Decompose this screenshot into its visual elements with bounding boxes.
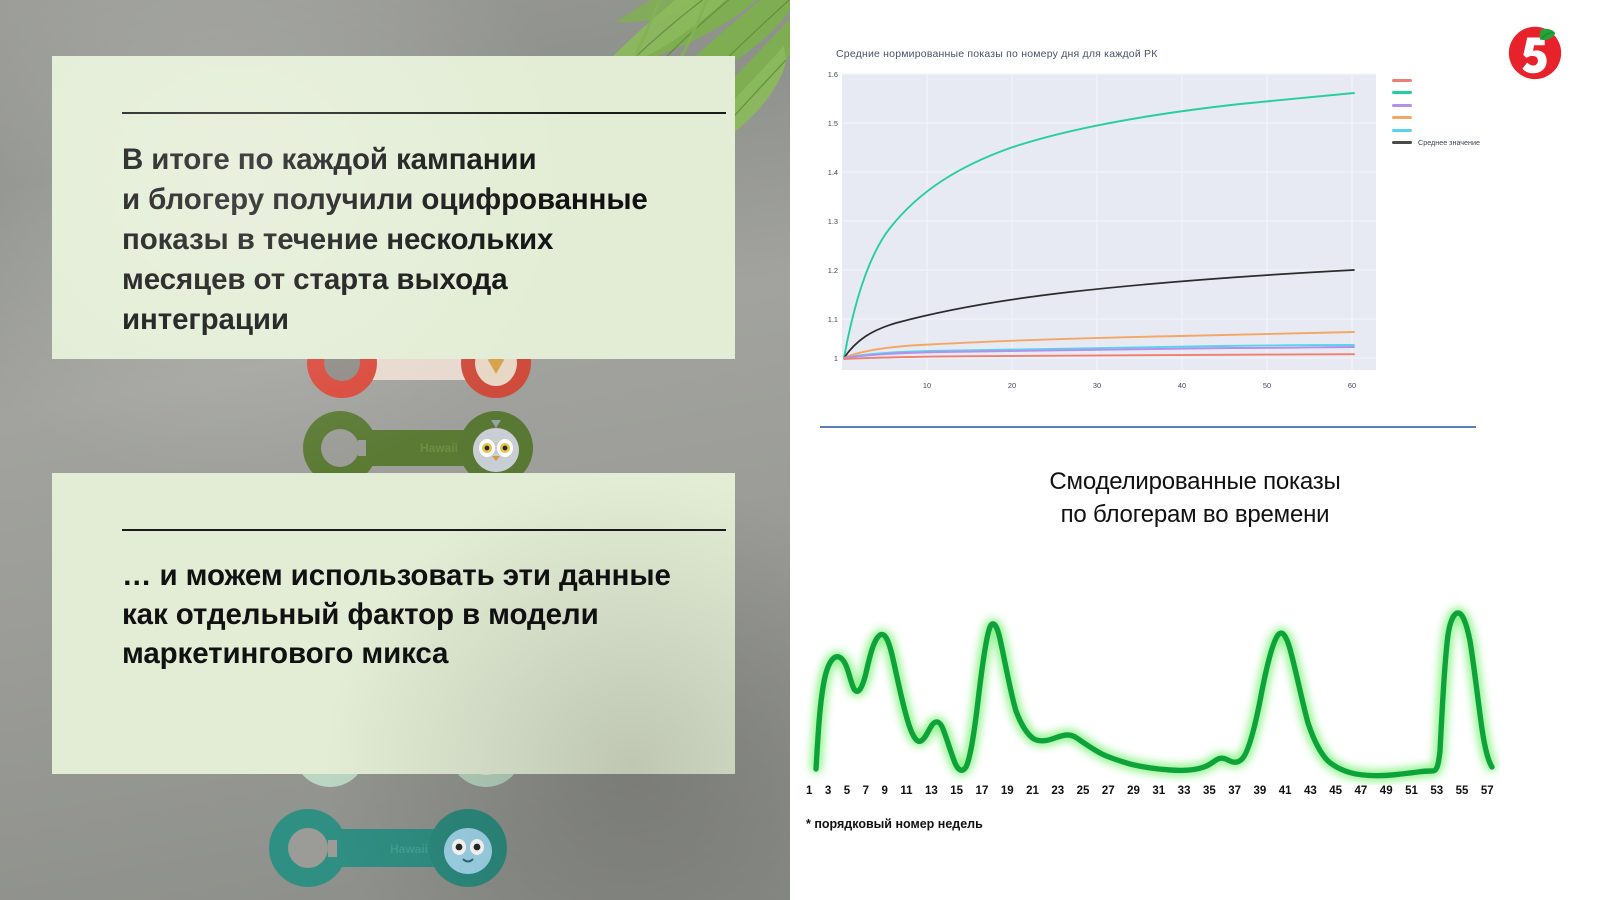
toy-keychain-teal-dino: Hawaii	[260, 795, 520, 900]
svg-text:1.4: 1.4	[828, 168, 838, 177]
tick-label: 1	[806, 785, 812, 797]
chart-plot-area: 1.6 1.5 1.4 1.3 1.2 1.1 1 10 20 30 40	[820, 68, 1500, 416]
chart-bottom-rule	[820, 426, 1476, 428]
svg-text:1.2: 1.2	[828, 266, 838, 275]
sparkline-path	[816, 613, 1492, 776]
tick-label: 47	[1355, 785, 1368, 797]
tick-label: 15	[950, 785, 963, 797]
svg-text:1.3: 1.3	[828, 217, 838, 226]
tick-label: 9	[882, 785, 888, 797]
card-usage-text: … и можем использовать эти данные как от…	[122, 557, 691, 674]
tick-label: 43	[1304, 785, 1317, 797]
tick-label: 55	[1456, 785, 1469, 797]
tick-label: 27	[1102, 785, 1115, 797]
svg-text:1.6: 1.6	[828, 70, 838, 79]
card-usage: … и можем использовать эти данные как от…	[52, 473, 735, 774]
legend-label-average: Среднее значение	[1418, 138, 1480, 147]
card-conclusion-text: В итоге по каждой кампании и блогеру пол…	[122, 140, 691, 341]
legend-item	[1392, 112, 1502, 125]
chart-average-normalized-impressions: Средние нормированные показы по номеру д…	[820, 48, 1500, 433]
svg-text:20: 20	[1008, 381, 1016, 390]
tick-label: 41	[1279, 785, 1292, 797]
tick-label: 53	[1430, 785, 1443, 797]
tick-label: 17	[976, 785, 989, 797]
tick-label: 25	[1077, 785, 1090, 797]
pyaterochka-logo-icon	[1504, 20, 1566, 82]
background-photo: Hawaii	[0, 0, 790, 900]
svg-text:40: 40	[1178, 381, 1186, 390]
tick-label: 29	[1127, 785, 1140, 797]
legend-item	[1392, 99, 1502, 112]
tick-label: 23	[1051, 785, 1064, 797]
tick-label: 57	[1481, 785, 1494, 797]
card-divider-rule	[122, 112, 726, 114]
tick-label: 45	[1329, 785, 1342, 797]
tick-label: 39	[1253, 785, 1266, 797]
svg-text:10: 10	[923, 381, 931, 390]
sparkline-x-axis-ticks: 1 3 5 7 9 11 13 15 17 19 21 23 25 27 29 …	[800, 785, 1500, 797]
svg-text:60: 60	[1348, 381, 1356, 390]
legend-swatch-cyan	[1392, 129, 1412, 132]
sparkline-svg	[800, 555, 1500, 785]
svg-text:1.1: 1.1	[828, 315, 838, 324]
legend-swatch-salmon	[1392, 79, 1412, 82]
legend-swatch-orange	[1392, 116, 1412, 119]
chart-legend: Среднее значение	[1392, 74, 1502, 149]
chart-modelled-impressions-over-time: 1 3 5 7 9 11 13 15 17 19 21 23 25 27 29 …	[800, 555, 1500, 855]
tick-label: 13	[925, 785, 938, 797]
svg-text:Hawaii: Hawaii	[390, 842, 428, 856]
legend-swatch-average	[1392, 141, 1412, 144]
legend-item	[1392, 74, 1502, 87]
tick-label: 31	[1152, 785, 1165, 797]
tick-label: 19	[1001, 785, 1014, 797]
svg-text:50: 50	[1263, 381, 1271, 390]
card-divider-rule	[122, 529, 726, 531]
chart-footnote: * порядковый номер недель	[806, 817, 983, 831]
chart-title: Средние нормированные показы по номеру д…	[836, 48, 1500, 60]
svg-text:1: 1	[834, 354, 838, 363]
legend-item	[1392, 124, 1502, 137]
tick-label: 3	[825, 785, 831, 797]
tick-label: 7	[863, 785, 869, 797]
tick-label: 51	[1405, 785, 1418, 797]
svg-text:30: 30	[1093, 381, 1101, 390]
svg-text:Hawaii: Hawaii	[420, 441, 458, 455]
tick-label: 37	[1228, 785, 1241, 797]
tick-label: 11	[900, 785, 912, 797]
tick-label: 33	[1178, 785, 1191, 797]
tick-label: 35	[1203, 785, 1216, 797]
legend-swatch-green	[1392, 91, 1412, 94]
legend-swatch-purple	[1392, 104, 1412, 107]
right-content-panel: Средние нормированные показы по номеру д…	[790, 0, 1600, 900]
legend-item-average: Среднее значение	[1392, 137, 1502, 150]
tick-label: 49	[1380, 785, 1393, 797]
tick-label: 21	[1026, 785, 1039, 797]
section-heading: Смоделированные показы по блогерам во вр…	[790, 466, 1600, 531]
card-conclusion: В итоге по каждой кампании и блогеру пол…	[52, 56, 735, 359]
tick-label: 5	[844, 785, 850, 797]
slide: Hawaii	[0, 0, 1600, 900]
svg-text:1.5: 1.5	[828, 119, 838, 128]
legend-item	[1392, 87, 1502, 100]
